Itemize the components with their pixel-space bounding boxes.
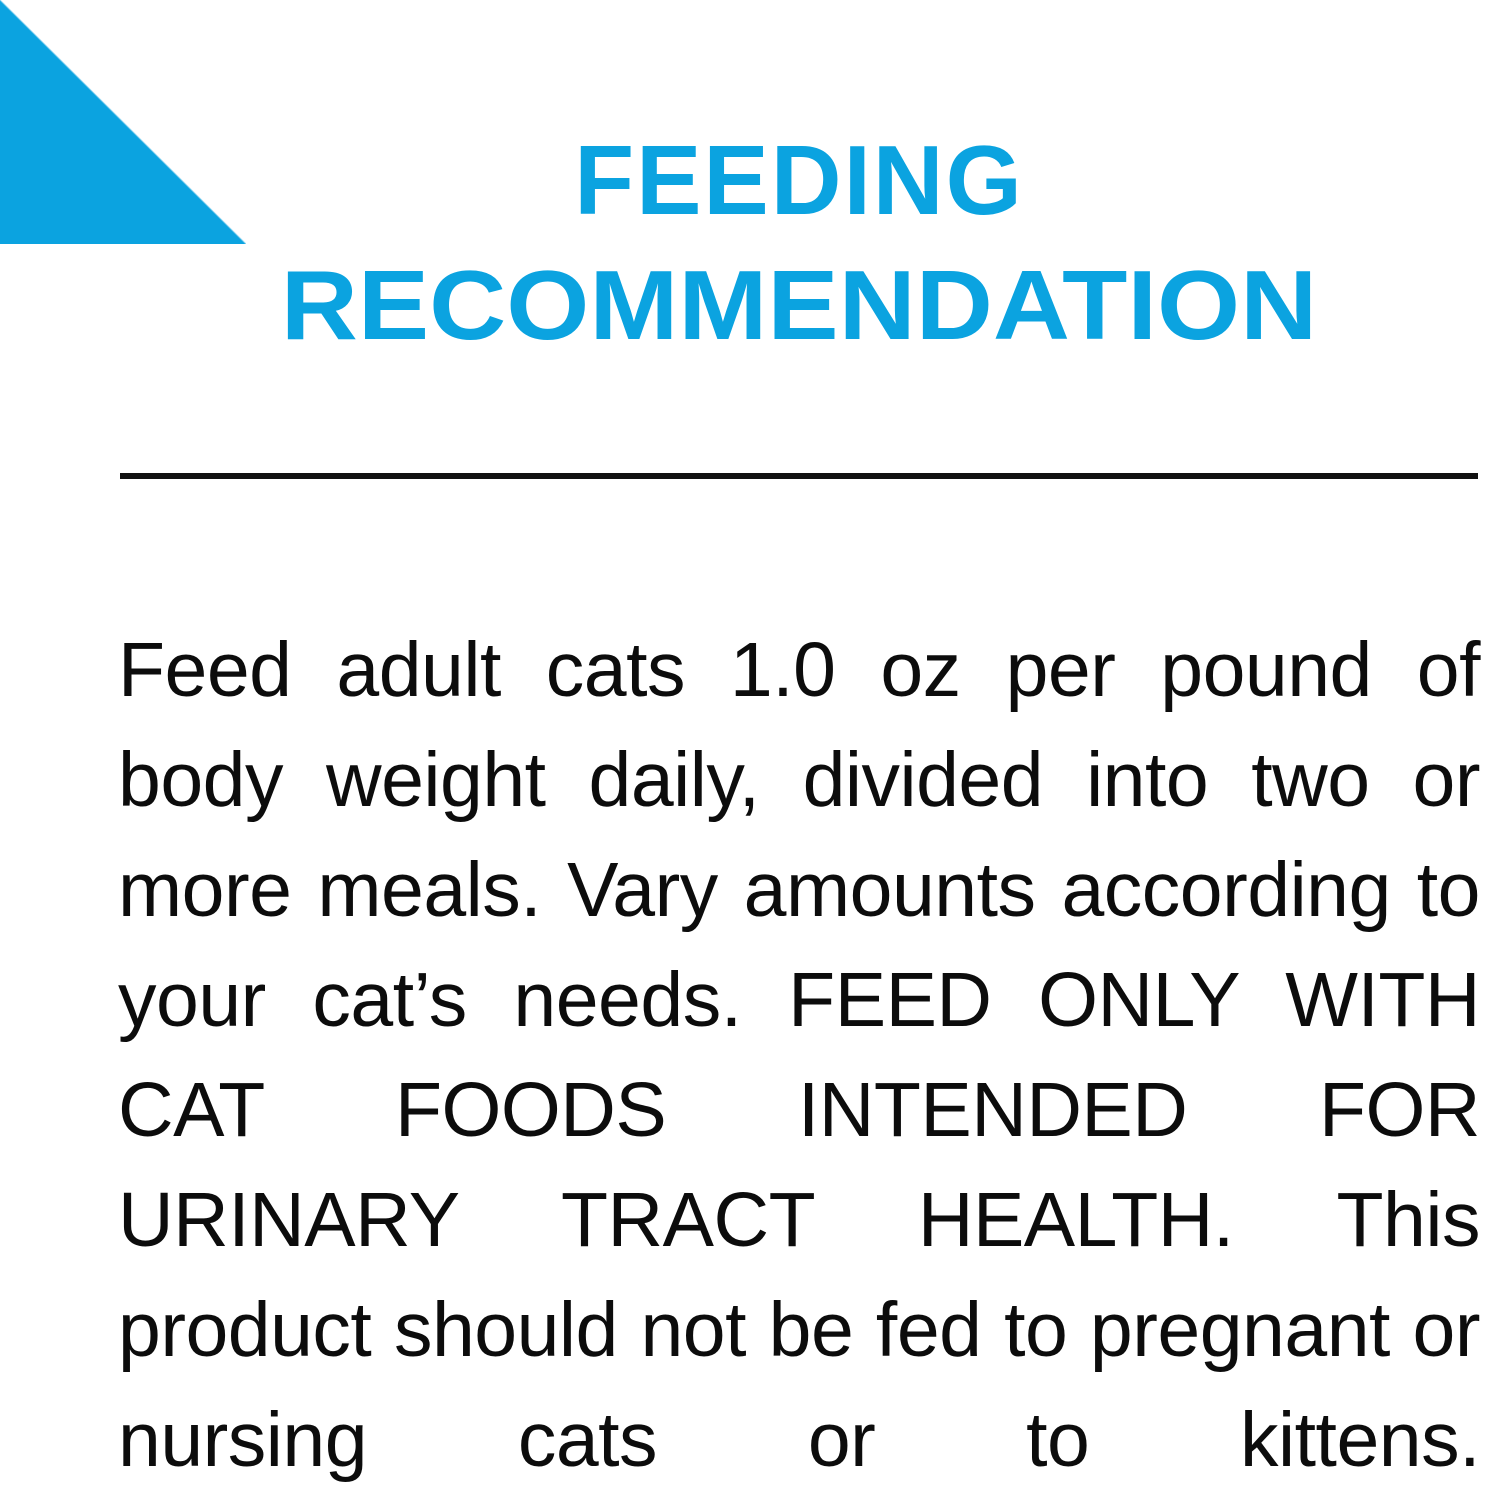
feeding-instructions-text: Feed adult cats 1.0 oz per pound of body… xyxy=(118,615,1480,1500)
page-title-line-2: RECOMMENDATION xyxy=(57,243,1490,368)
title-divider-rule xyxy=(120,473,1478,479)
page-title-line-1: FEEDING xyxy=(118,118,1480,243)
feeding-recommendation-panel: FEEDING RECOMMENDATION Feed adult cats 1… xyxy=(0,0,1490,1500)
page-title: FEEDING RECOMMENDATION xyxy=(118,118,1480,369)
